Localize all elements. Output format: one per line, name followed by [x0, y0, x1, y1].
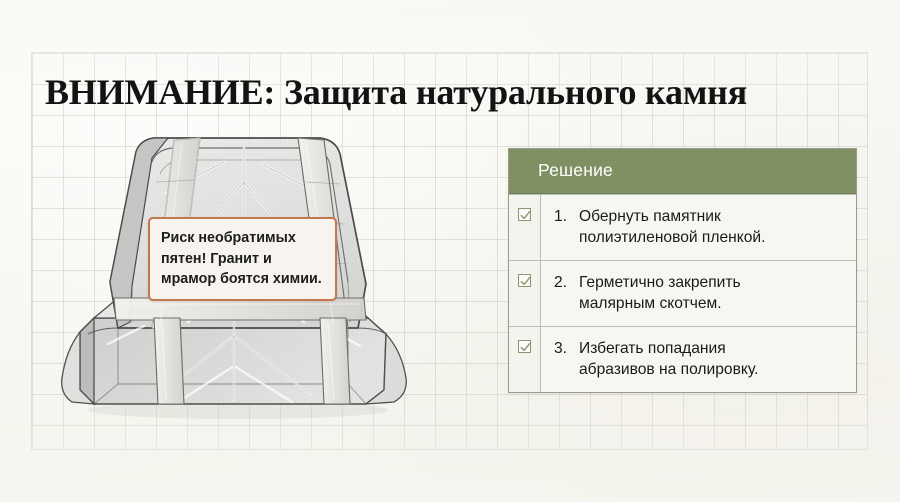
row-text: Герметично закрепить малярным скотчем. — [579, 272, 846, 314]
row-content: 2. Герметично закрепить малярным скотчем… — [541, 261, 856, 326]
table-row[interactable]: 1. Обернуть памятник полиэтиленовой плен… — [509, 194, 856, 260]
checkbox-checked-icon[interactable] — [518, 274, 531, 287]
row-text: Избегать попадания абразивов на полировк… — [579, 338, 846, 380]
row-text: Обернуть памятник полиэтиленовой пленкой… — [579, 206, 846, 248]
table-header-solution: Решение — [509, 149, 856, 194]
slide-canvas: ВНИМАНИЕ: Защита натурального камня — [0, 0, 900, 502]
row-content: 1. Обернуть памятник полиэтиленовой плен… — [541, 195, 856, 260]
callout-line-2: пятен! Гранит и — [161, 249, 325, 270]
risk-warning-callout: Риск необратимых пятен! Гранит и мрамор … — [148, 217, 337, 301]
row-text-line: малярным скотчем. — [579, 293, 846, 314]
table-row[interactable]: 3. Избегать попадания абразивов на полир… — [509, 326, 856, 392]
row-text-line: Избегать попадания — [579, 338, 846, 359]
row-checkbox-cell[interactable] — [509, 261, 541, 326]
table-row[interactable]: 2. Герметично закрепить малярным скотчем… — [509, 260, 856, 326]
solution-table: Решение 1. Обернуть памятник полиэтилено… — [508, 148, 857, 393]
callout-line-1: Риск необратимых — [161, 228, 325, 249]
row-text-line: Герметично закрепить — [579, 272, 846, 293]
row-number: 2. — [554, 272, 579, 314]
row-number: 1. — [554, 206, 579, 248]
row-checkbox-cell[interactable] — [509, 195, 541, 260]
row-text-line: Обернуть памятник — [579, 206, 846, 227]
callout-line-3: мрамор боятся химии. — [161, 269, 325, 290]
row-content: 3. Избегать попадания абразивов на полир… — [541, 327, 856, 392]
page-title: ВНИМАНИЕ: Защита натурального камня — [45, 70, 855, 114]
checkbox-checked-icon[interactable] — [518, 340, 531, 353]
row-text-line: абразивов на полировку. — [579, 359, 846, 380]
checkbox-checked-icon[interactable] — [518, 208, 531, 221]
row-text-line: полиэтиленовой пленкой. — [579, 227, 846, 248]
row-checkbox-cell[interactable] — [509, 327, 541, 392]
row-number: 3. — [554, 338, 579, 380]
